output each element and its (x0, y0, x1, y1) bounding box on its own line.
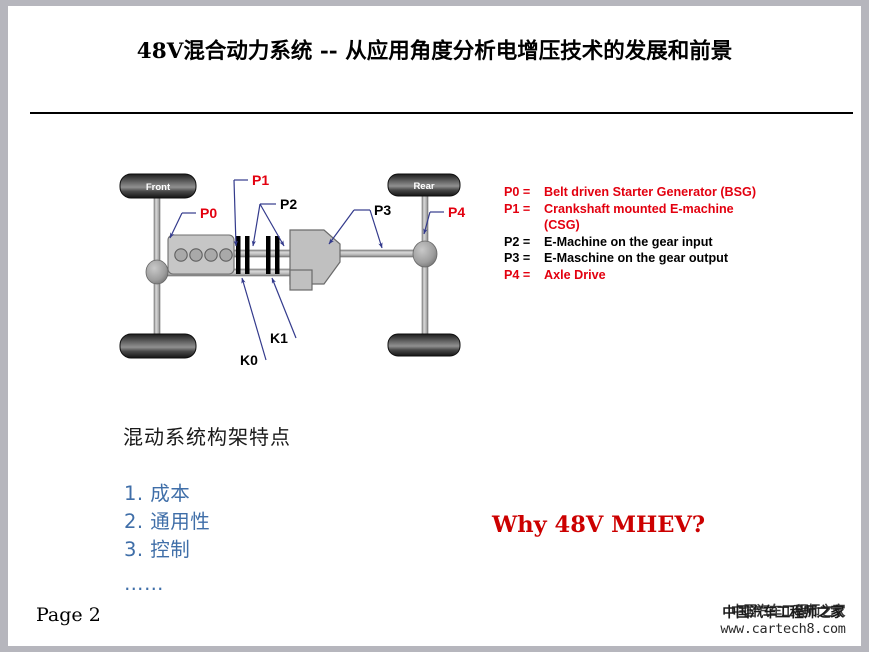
legend-row-p3: P3 = E-Maschine on the gear output (504, 250, 764, 267)
why-48v-mhev-heading: Why 48V MHEV? (492, 512, 705, 538)
legend-key-p1: P1 = (504, 201, 544, 218)
legend-value-p2: E-Machine on the gear input (544, 234, 764, 251)
callout-label-k0: K0 (240, 352, 258, 368)
legend-key-p0: P0 = (504, 184, 544, 201)
legend-row-p2: P2 = E-Machine on the gear input (504, 234, 764, 251)
feature-list-ellipsis: …… (124, 572, 164, 595)
callout-label-p1: P1 (252, 172, 269, 188)
page-title: 48V混合动力系统 -- 从应用角度分析电增压技术的发展和前景 (8, 34, 861, 65)
topology-legend: P0 = Belt driven Starter Generator (BSG)… (504, 184, 764, 284)
page-title-area: 48V混合动力系统 -- 从应用角度分析电增压技术的发展和前景 (8, 34, 861, 65)
legend-key-p3: P3 = (504, 250, 544, 267)
callout-leader-p0 (170, 213, 196, 238)
wheel-label-front: Front (146, 182, 171, 193)
callout-label-k1: K1 (270, 330, 288, 346)
wheel-front-bottom (120, 334, 196, 358)
list-item: 2. 通用性 (124, 508, 210, 536)
hybrid-architecture-diagram: Front Rear (108, 166, 508, 376)
callout-label-p3: P3 (374, 202, 391, 218)
legend-value-p3: E-Maschine on the gear output (544, 250, 764, 267)
callout-label-p4: P4 (448, 204, 465, 220)
callout-label-p2: P2 (280, 196, 297, 212)
callout-label-p0: P0 (200, 205, 217, 221)
legend-row-p0: P0 = Belt driven Starter Generator (BSG) (504, 184, 764, 201)
wheel-label-rear: Rear (413, 181, 434, 192)
legend-key-p4: P4 = (504, 267, 544, 284)
legend-row-p1: P1 = Crankshaft mounted E-machine (CSG) (504, 201, 764, 234)
legend-value-p0: Belt driven Starter Generator (BSG) (544, 184, 764, 201)
title-divider (30, 112, 853, 114)
engine-block (168, 235, 234, 274)
watermark-chinese-text: 中国汽车工程师之家 中国汽车工程师之家 (708, 602, 858, 620)
legend-value-p4: Axle Drive (544, 267, 764, 284)
list-item: 1. 成本 (124, 480, 210, 508)
feature-heading: 混动系统构架特点 (123, 421, 291, 450)
watermark-url: www.cartech8.com (708, 621, 858, 637)
front-differential (146, 260, 168, 284)
watermark: 中国汽车工程师之家 中国汽车工程师之家 www.cartech8.com (708, 602, 858, 637)
list-item: 3. 控制 (124, 536, 210, 564)
legend-row-p4: P4 = Axle Drive (504, 267, 764, 284)
feature-list: 1. 成本 2. 通用性 3. 控制 (124, 480, 210, 564)
wheel-rear-bottom (388, 334, 460, 356)
callout-leader-k0 (242, 278, 266, 360)
rear-differential (413, 241, 437, 267)
page-number: Page 2 (36, 604, 101, 626)
watermark-chinese-ghost: 中国汽车工程师之家 (718, 602, 859, 620)
legend-value-p1: Crankshaft mounted E-machine (CSG) (544, 201, 764, 234)
slide-canvas: 48V混合动力系统 -- 从应用角度分析电增压技术的发展和前景 (8, 6, 861, 646)
legend-key-p2: P2 = (504, 234, 544, 251)
